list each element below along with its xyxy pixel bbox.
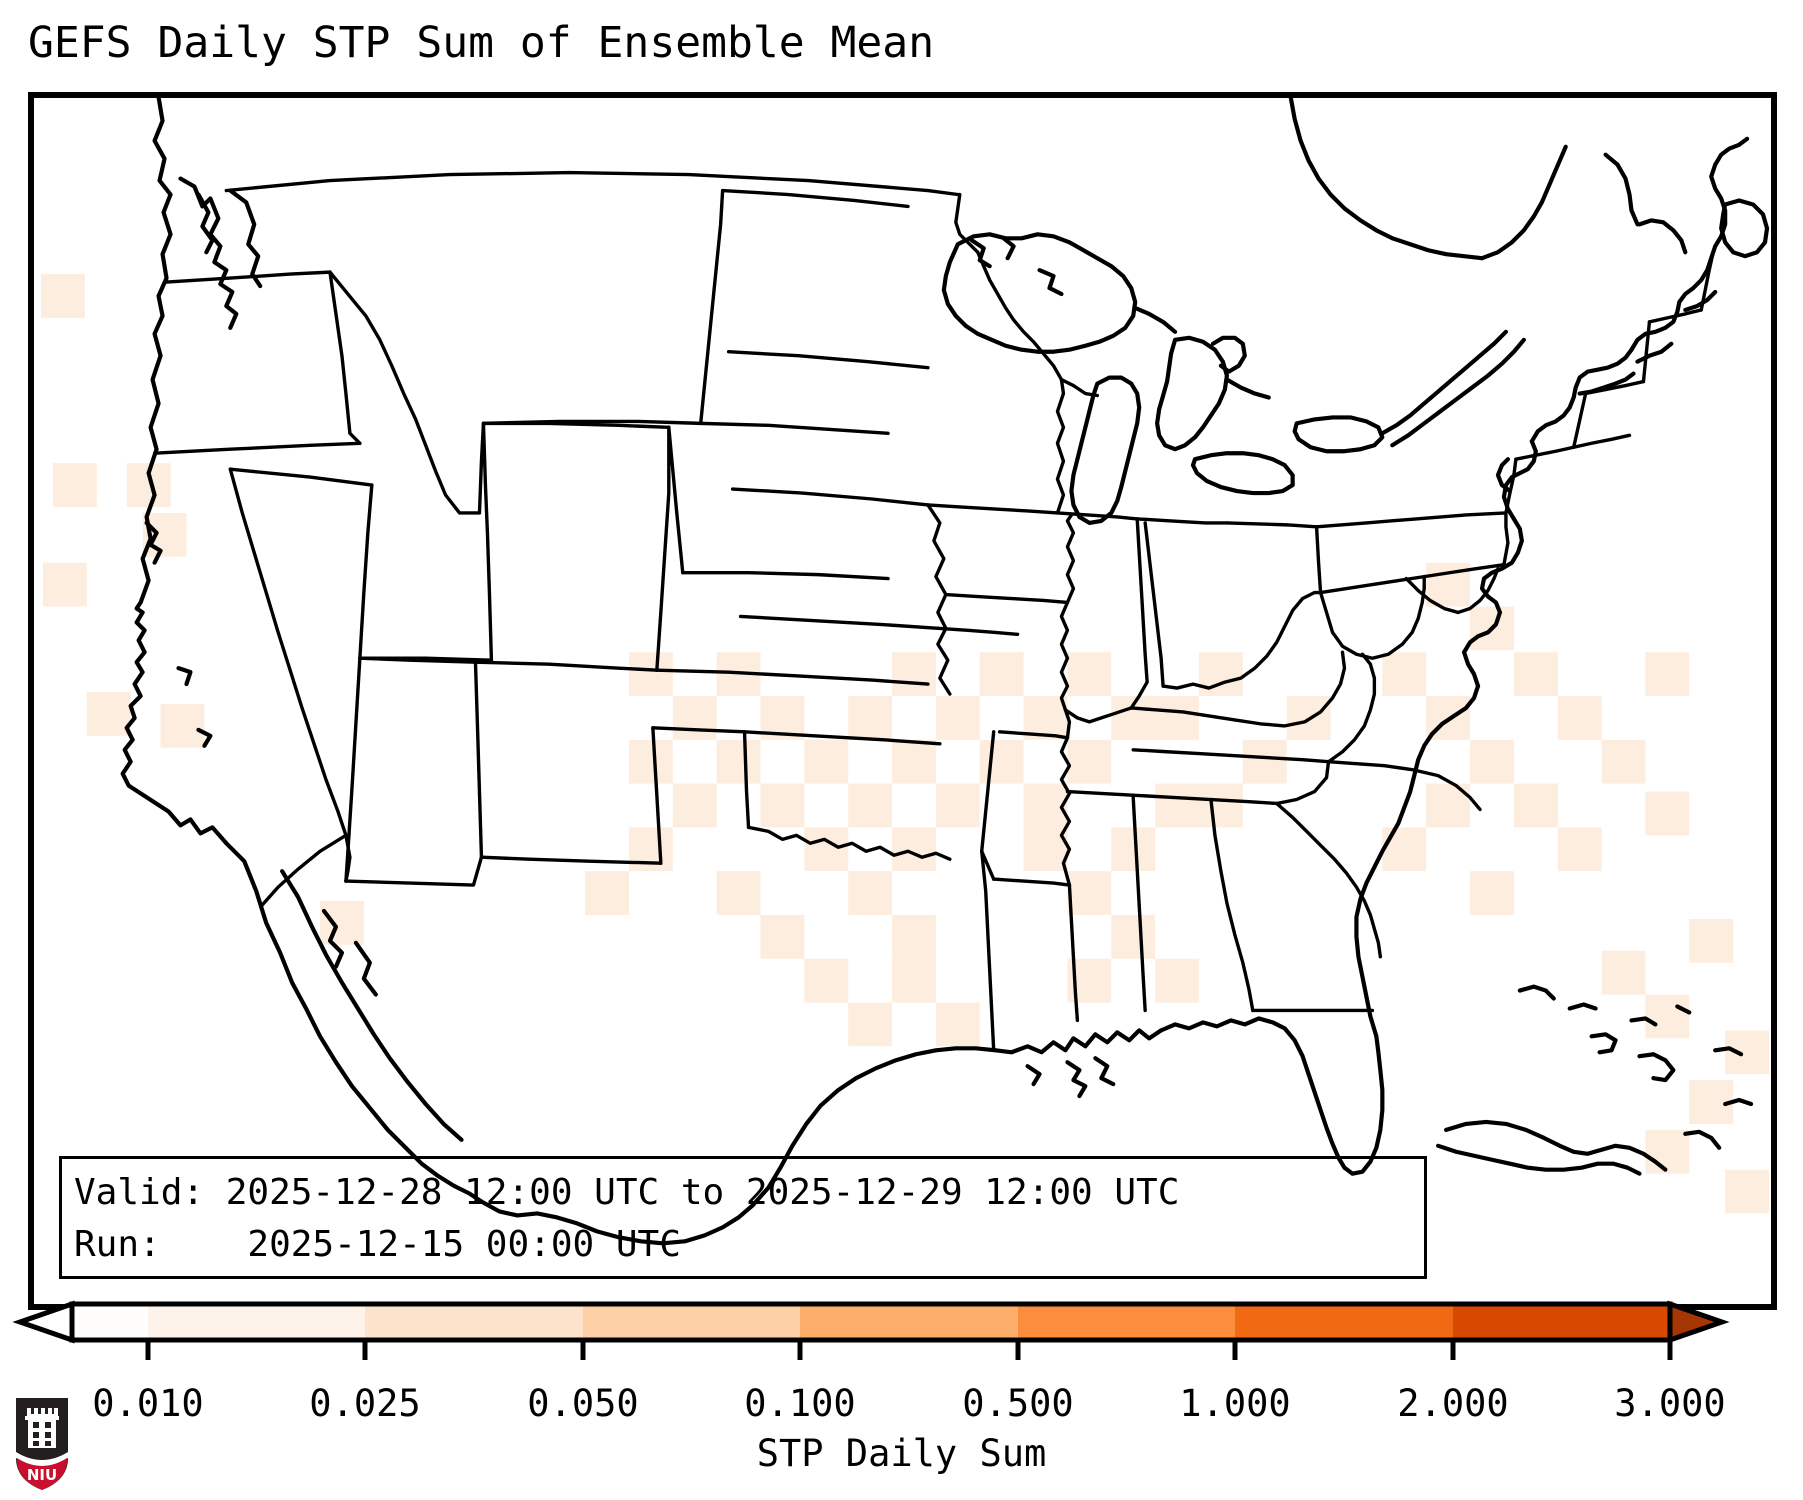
colorbar-tick-label: 2.000 bbox=[1397, 1382, 1508, 1425]
colorbar-tick-label: 0.050 bbox=[527, 1382, 638, 1425]
colorbar-svg bbox=[0, 1300, 1803, 1360]
map-svg bbox=[31, 95, 1774, 1307]
colorbar-tick-label: 0.025 bbox=[309, 1382, 420, 1425]
niu-logo-text: NIU bbox=[27, 1466, 57, 1484]
run-time-line: Run: 2025-12-15 00:00 UTC bbox=[74, 1219, 1424, 1271]
page-title: GEFS Daily STP Sum of Ensemble Mean bbox=[28, 18, 934, 68]
map-plot-area bbox=[28, 92, 1777, 1310]
colorbar-segments bbox=[72, 1304, 1670, 1340]
colorbar-ticks bbox=[148, 1340, 1670, 1360]
colorbar bbox=[0, 1300, 1803, 1360]
colorbar-tick-labels: 0.010 0.025 0.050 0.100 0.500 1.000 2.00… bbox=[0, 1382, 1803, 1430]
colorbar-over-arrow bbox=[1670, 1304, 1722, 1340]
colorbar-tick-label: 1.000 bbox=[1179, 1382, 1290, 1425]
colorbar-axis-label: STP Daily Sum bbox=[0, 1432, 1803, 1475]
colorbar-tick-label: 0.010 bbox=[92, 1382, 203, 1425]
niu-logo: NIU bbox=[14, 1396, 70, 1492]
colorbar-tick-label: 0.100 bbox=[744, 1382, 855, 1425]
colorbar-tick-label: 3.000 bbox=[1614, 1382, 1725, 1425]
colorbar-tick-label: 0.500 bbox=[962, 1382, 1073, 1425]
forecast-info-box: Valid: 2025-12-28 12:00 UTC to 2025-12-2… bbox=[59, 1156, 1427, 1279]
stp-shaded-cells bbox=[41, 274, 1769, 1213]
colorbar-under-arrow bbox=[20, 1304, 72, 1340]
valid-time-line: Valid: 2025-12-28 12:00 UTC to 2025-12-2… bbox=[74, 1167, 1424, 1219]
